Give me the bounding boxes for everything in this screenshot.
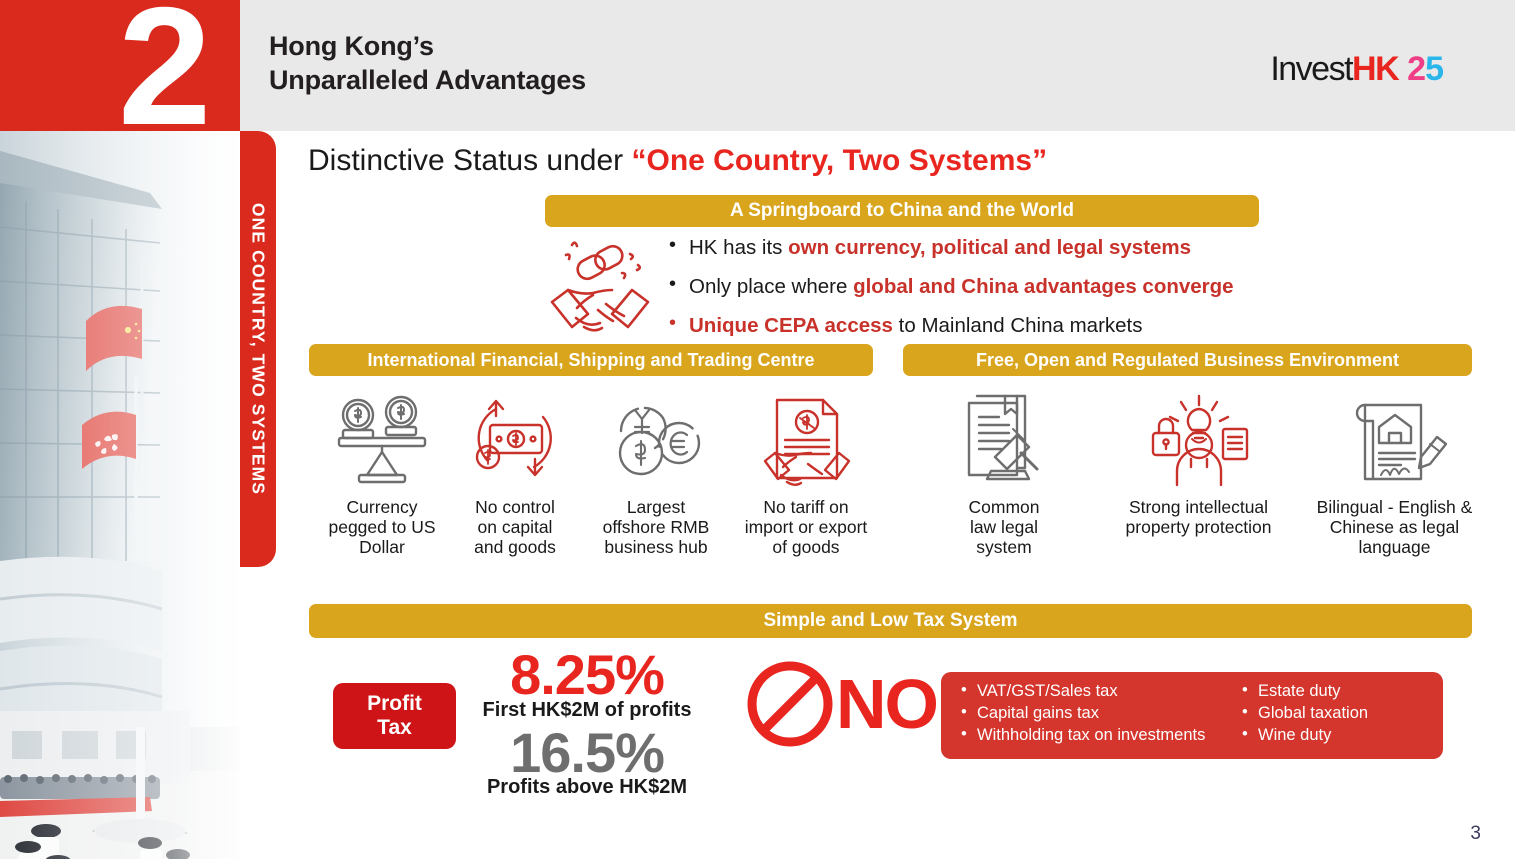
tax-rate-block: 8.25% First HK$2M of profits 16.5% Profi… — [462, 649, 712, 799]
list-item: Estate duty — [1242, 681, 1427, 703]
logo-25-five: 5 — [1425, 50, 1443, 89]
gavel-document-icon — [924, 389, 1084, 491]
page-title: Hong Kong’s Unparalleled Advantages — [269, 29, 586, 98]
pillar-caption: No controlon capitaland goods — [435, 498, 595, 558]
springboard-bullet-list: HK has its own currency, political and l… — [667, 236, 1497, 353]
bullet-plain-before: HK has its — [689, 236, 788, 259]
logo-25-two: 2 — [1407, 50, 1425, 89]
pillar-caption: Bilingual - English &Chinese as legallan… — [1292, 498, 1497, 558]
profit-tax-line1: Profit — [367, 692, 422, 716]
list-item: Capital gains tax — [961, 703, 1242, 725]
pillar-no-capital-control: No controlon capitaland goods — [435, 389, 595, 558]
list-item: Unique CEPA access to Mainland China mar… — [667, 314, 1497, 338]
handshake-chain-icon — [546, 232, 654, 337]
banner-business-environment: Free, Open and Regulated Business Enviro… — [903, 344, 1472, 376]
section-side-tab: ONE COUNTRY, TWO SYSTEMS — [240, 131, 276, 567]
investhk-logo: InvestHK25 — [1270, 50, 1443, 89]
tax-rate-secondary: 16.5% — [462, 727, 712, 779]
banner-financial-shipping-trading: International Financial, Shipping and Tr… — [309, 344, 873, 376]
status-badge-profit-tax: Profit Tax — [333, 683, 456, 749]
no-taxes-mark: NO — [744, 658, 937, 750]
pillar-ip-protection: Strong intellectualproperty protection — [1096, 389, 1301, 538]
bullet-plain-after: to Mainland China markets — [893, 314, 1143, 337]
pillar-bilingual-legal: Bilingual - English &Chinese as legallan… — [1292, 389, 1497, 558]
banner-springboard: A Springboard to China and the World — [545, 195, 1259, 227]
signed-scroll-pen-icon — [1292, 389, 1497, 491]
tax-rate-primary: 8.25% — [462, 649, 712, 701]
bullet-highlight: own currency, political and legal system… — [788, 236, 1191, 259]
section-side-tab-label: ONE COUNTRY, TWO SYSTEMS — [248, 203, 269, 495]
page-number: 3 — [1470, 823, 1481, 845]
pillar-caption: No tariff onimport or exportof goods — [726, 498, 886, 558]
profit-tax-line2: Tax — [367, 716, 422, 740]
list-item: VAT/GST/Sales tax — [961, 681, 1242, 703]
list-item: Withholding tax on investments — [961, 725, 1242, 747]
hero-photo-flag-ceremony — [0, 131, 240, 859]
main-content: Distinctive Status under “One Country, T… — [276, 131, 1515, 859]
excluded-taxes-panel: VAT/GST/Sales tax Capital gains tax With… — [941, 672, 1443, 759]
bullet-highlight: Unique CEPA access — [689, 314, 893, 337]
pillar-caption: Largestoffshore RMBbusiness hub — [576, 498, 736, 558]
pillar-icon-row: Currencypegged to USDollar — [276, 389, 1515, 594]
tax-rate-secondary-caption: Profits above HK$2M — [462, 776, 712, 799]
section-number: 2 — [118, 0, 207, 150]
bullet-highlight: global and China advantages converge — [853, 275, 1233, 298]
multi-currency-coins-icon — [576, 389, 736, 491]
section-heading: Distinctive Status under “One Country, T… — [308, 144, 1047, 178]
ip-protection-lock-idea-icon — [1096, 389, 1301, 491]
pillar-common-law: Commonlaw legalsystem — [924, 389, 1084, 558]
tax-rate-primary-caption: First HK$2M of profits — [462, 699, 712, 722]
prohibition-sign-icon — [744, 658, 836, 750]
page-title-line2: Unparalleled Advantages — [269, 63, 586, 97]
pillar-offshore-rmb: Largestoffshore RMBbusiness hub — [576, 389, 736, 558]
section-number-block: 2 — [0, 0, 240, 131]
bullet-plain-before: Only place where — [689, 275, 853, 298]
money-circulation-icon — [435, 389, 595, 491]
logo-hk-text: HK — [1352, 50, 1398, 89]
pillar-caption: Strong intellectualproperty protection — [1096, 498, 1301, 538]
page-title-line1: Hong Kong’s — [269, 29, 586, 63]
banner-simple-low-tax: Simple and Low Tax System — [309, 604, 1472, 638]
list-item: Only place where global and China advant… — [667, 275, 1497, 299]
slide-root: 2 Hong Kong’s Unparalleled Advantages In… — [0, 0, 1515, 859]
excluded-taxes-col2: Estate duty Global taxation Wine duty — [1242, 681, 1427, 750]
logo-invest-text: Invest — [1270, 50, 1352, 89]
pillar-no-tariff: No tariff onimport or exportof goods — [726, 389, 886, 558]
no-word-label: NO — [836, 669, 937, 739]
section-heading-plain: Distinctive Status under — [308, 144, 631, 177]
excluded-taxes-col1: VAT/GST/Sales tax Capital gains tax With… — [961, 681, 1242, 750]
list-item: HK has its own currency, political and l… — [667, 236, 1497, 260]
section-heading-highlight: “One Country, Two Systems” — [631, 144, 1047, 177]
pillar-caption: Commonlaw legalsystem — [924, 498, 1084, 558]
document-handshake-icon — [726, 389, 886, 491]
list-item: Global taxation — [1242, 703, 1427, 725]
list-item: Wine duty — [1242, 725, 1427, 747]
